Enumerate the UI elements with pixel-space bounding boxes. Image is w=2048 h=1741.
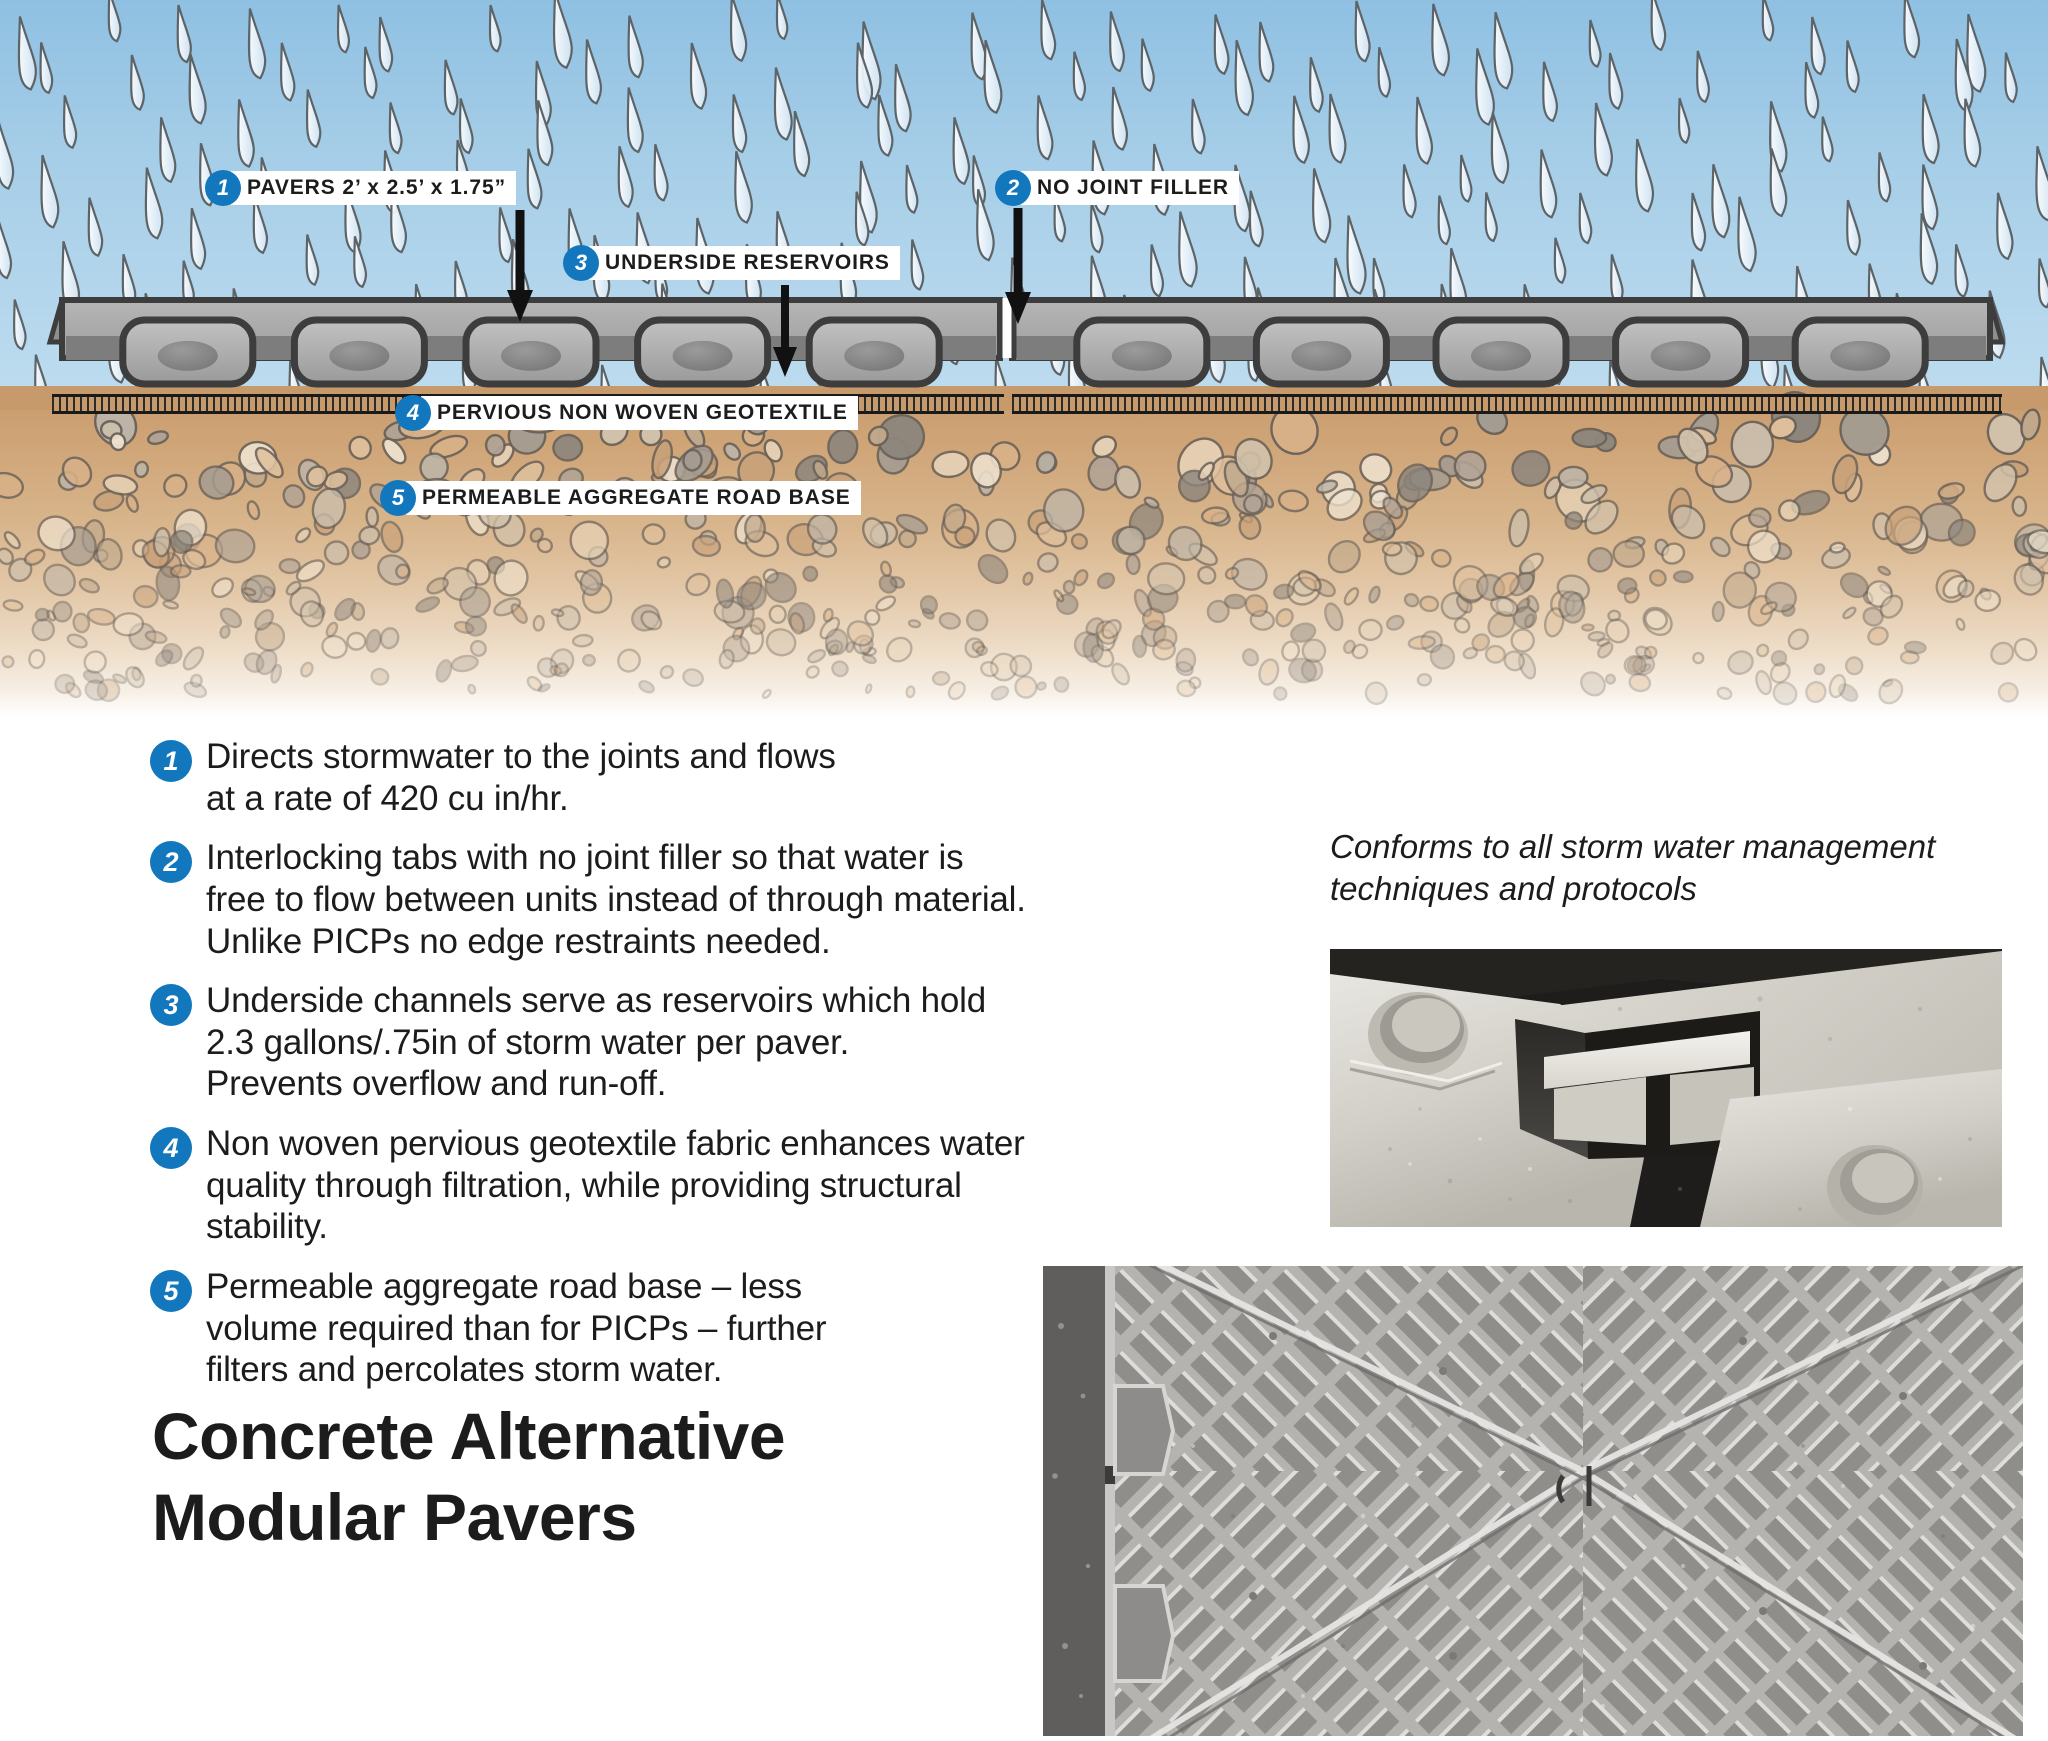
aggregate-pebble [294, 556, 328, 585]
bullet-badge-5: 5 [150, 1270, 192, 1312]
aggregate-pebble [1582, 624, 1593, 630]
bullet-body-2: Interlocking tabs with no joint filler s… [206, 837, 1026, 962]
aggregate-pebble [583, 655, 594, 665]
aggregate-pebble [683, 570, 713, 599]
bullet-body-5: Permeable aggregate road base – less vol… [206, 1266, 826, 1391]
paver-lobe-hole [1291, 341, 1351, 371]
aggregate-pebble [721, 441, 743, 463]
bullet-line: free to flow between units instead of th… [206, 880, 1026, 919]
aggregate-pebble [2012, 496, 2026, 516]
aggregate-pebble [366, 507, 379, 527]
aggregate-pebble [28, 649, 45, 668]
callout-label-5: PERMEABLE AGGREGATE ROAD BASE [406, 481, 861, 515]
aggregate-pebble [1363, 680, 1390, 707]
aggregate-pebble [1693, 653, 1703, 663]
aggregate-pebble [1133, 636, 1146, 657]
paver-lobe-hole [673, 341, 733, 371]
bullet-body-3: Underside channels serve as reservoirs w… [206, 980, 986, 1105]
aggregate-pebble [1126, 554, 1140, 574]
aggregate-pebble [1605, 674, 1616, 685]
bullet-line: Directs stormwater to the joints and flo… [206, 737, 836, 776]
aggregate-pebble [1359, 619, 1383, 641]
aggregate-pebble [346, 433, 375, 463]
aggregate-road-base-layer [0, 386, 2048, 716]
list-item: 2 Interlocking tabs with no joint filler… [150, 837, 1260, 962]
bullet-line: filters and percolates storm water. [206, 1350, 722, 1389]
bullet-line: stability. [206, 1207, 328, 1246]
conformance-note: Conforms to all storm water management t… [1330, 826, 2030, 909]
aggregate-pebble [3, 599, 23, 612]
aggregate-pebble [1613, 541, 1644, 567]
aggregate-pebble [883, 633, 916, 666]
aggregate-pebble [180, 644, 206, 672]
aggregate-pebble [1749, 508, 1770, 526]
bullet-line: Permeable aggregate road base – less [206, 1267, 802, 1306]
aggregate-pebble [614, 646, 644, 676]
callout-pavers[interactable]: 1 PAVERS 2’ x 2.5’ x 1.75” [205, 170, 516, 206]
paver-lobe-hole [1112, 341, 1172, 371]
callout-label-4: PERVIOUS NON WOVEN GEOTEXTILE [421, 396, 858, 430]
aggregate-pebble [1770, 678, 1801, 708]
infographic-page: 1 PAVERS 2’ x 2.5’ x 1.75” 2 NO JOINT FI… [0, 0, 2048, 1741]
aggregate-pebble [1617, 577, 1637, 594]
aggregate-pebble [379, 626, 401, 650]
aggregate-pebble [160, 471, 191, 501]
aggregate-pebble [1053, 589, 1065, 602]
aggregate-pebble [1022, 572, 1034, 586]
aggregate-pebble [1877, 565, 1891, 576]
aggregate-pebble [1053, 676, 1069, 693]
aggregate-pebble [1674, 571, 1693, 582]
bullet-line: Interlocking tabs with no joint filler s… [206, 838, 963, 877]
callout-no-joint-filler[interactable]: 2 NO JOINT FILLER [995, 170, 1239, 206]
bullet-line: Prevents overflow and run-off. [206, 1064, 666, 1103]
aggregate-pebble [865, 610, 880, 625]
aggregate-pebble [555, 604, 582, 632]
aggregate-pebble [1036, 681, 1046, 691]
paver-lobe-hole [1830, 341, 1890, 371]
bullet-body-4: Non woven pervious geotextile fabric enh… [206, 1123, 1025, 1248]
aggregate-pebble [1803, 679, 1828, 705]
aggregate-pebble [123, 664, 147, 690]
callout-badge-5: 5 [380, 480, 416, 516]
aggregate-pebble [132, 584, 159, 609]
aggregate-pebble [1240, 647, 1260, 668]
aggregate-pebble [0, 654, 15, 669]
aggregate-pebble [1273, 606, 1295, 629]
aggregate-pebble [874, 594, 897, 613]
callout-underside-reservoirs[interactable]: 3 UNDERSIDE RESERVOIRS [563, 245, 900, 281]
paver-lobe-hole [329, 341, 389, 371]
aggregate-pebble [2011, 635, 2041, 665]
aggregate-pebble [1278, 489, 1310, 514]
aggregate-pebble [1558, 466, 1587, 488]
pebbles-group [0, 386, 2048, 716]
arrow-pavers [505, 210, 535, 325]
aggregate-pebble [573, 634, 593, 647]
paver-lobe-hole [158, 341, 218, 371]
aggregate-pebble [280, 559, 300, 573]
callout-label-2: NO JOINT FILLER [1021, 171, 1239, 205]
aggregate-pebble [246, 500, 261, 520]
note-line-1: Conforms to all storm water management [1330, 826, 2030, 868]
aggregate-pebble [1403, 592, 1420, 608]
aggregate-pebble [1785, 626, 1812, 653]
aggregate-pebble [1573, 429, 1607, 447]
aggregate-pebble [1647, 567, 1668, 588]
title-line-1: Concrete Alternative [152, 1396, 785, 1477]
aggregate-pebble [1322, 601, 1345, 632]
aggregate-pebble [865, 684, 872, 694]
callout-label-1: PAVERS 2’ x 2.5’ x 1.75” [231, 171, 516, 205]
aggregate-pebble [370, 667, 390, 687]
aggregate-pebble [827, 428, 859, 464]
aggregate-pebble [2, 530, 22, 551]
aggregate-pebble [802, 565, 819, 582]
aggregate-pebble [365, 629, 382, 653]
paver-lobe-hole [1651, 341, 1711, 371]
aggregate-pebble [982, 515, 1021, 556]
aggregate-pebble [1712, 602, 1724, 622]
aggregate-pebble [1323, 535, 1366, 579]
aggregate-pebble [659, 664, 676, 680]
photo-paver-surface-texture [1043, 1266, 2023, 1736]
aggregate-pebble [1624, 656, 1645, 675]
aggregate-pebble [32, 618, 55, 641]
list-item: 4 Non woven pervious geotextile fabric e… [150, 1123, 1260, 1248]
list-item: 1 Directs stormwater to the joints and f… [150, 736, 1260, 819]
callout-label-3: UNDERSIDE RESERVOIRS [589, 246, 900, 280]
aggregate-pebble [657, 556, 672, 569]
aggregate-pebble [1905, 641, 1926, 654]
bullet-line: volume required than for PICPs – further [206, 1309, 826, 1348]
aggregate-pebble [638, 679, 656, 694]
aggregate-pebble [325, 541, 349, 564]
aggregate-pebble [1109, 661, 1132, 687]
aggregate-pebble [78, 576, 101, 594]
aggregate-pebble [963, 607, 991, 634]
aggregate-pebble [931, 450, 970, 479]
aggregate-pebble [280, 482, 308, 511]
aggregate-pebble [465, 616, 486, 636]
aggregate-pebble [220, 625, 231, 638]
bullet-line: at a rate of 420 cu in/hr. [206, 779, 569, 818]
aggregate-pebble [1813, 663, 1826, 676]
photo-paver-interlocking-tab [1330, 949, 2002, 1227]
aggregate-pebble [1866, 625, 1890, 647]
bullet-line: quality through filtration, while provid… [206, 1166, 962, 1205]
callout-aggregate-base[interactable]: 5 PERMEABLE AGGREGATE ROAD BASE [380, 480, 861, 516]
aggregate-pebble [1987, 639, 2017, 668]
aggregate-pebble [1383, 542, 1402, 556]
bullet-badge-2: 2 [150, 841, 192, 883]
aggregate-pebble [1974, 589, 2001, 613]
callout-geotextile[interactable]: 4 PERVIOUS NON WOVEN GEOTEXTILE [395, 395, 858, 431]
aggregate-pebble [973, 550, 1012, 589]
aggregate-pebble [681, 667, 705, 688]
aggregate-pebble [553, 434, 583, 461]
aggregate-pebble [1419, 595, 1439, 612]
aggregate-pebble [762, 689, 772, 699]
aggregate-pebble [805, 664, 821, 680]
note-line-2: techniques and protocols [1330, 868, 2030, 910]
aggregate-pebble [1064, 581, 1075, 594]
aggregate-pebble [218, 605, 245, 630]
content-area: 1 Directs stormwater to the joints and f… [0, 716, 2048, 1741]
aggregate-pebble [1368, 585, 1382, 603]
aggregate-pebble [1087, 455, 1120, 491]
aggregate-pebble [1716, 686, 1733, 701]
aggregate-pebble [1937, 481, 1965, 502]
aggregate-pebble [745, 515, 765, 542]
page-title: Concrete Alternative Modular Pavers [152, 1396, 785, 1557]
aggregate-pebble [1955, 618, 1966, 631]
aggregate-pebble [1272, 685, 1289, 702]
aggregate-pebble [434, 659, 453, 684]
aggregate-pebble [939, 612, 962, 631]
aggregate-pebble [1510, 628, 1534, 652]
aggregate-pebble [209, 575, 236, 601]
aggregate-pebble [1729, 420, 1775, 470]
aggregate-pebble [1628, 672, 1651, 693]
aggregate-pebble [485, 434, 505, 456]
aggregate-pebble [1584, 544, 1616, 576]
aggregate-pebble [1417, 673, 1431, 686]
list-item: 3 Underside channels serve as reservoirs… [150, 980, 1260, 1105]
aggregate-pebble [163, 600, 179, 610]
aggregate-pebble [66, 632, 88, 649]
bullet-line: Non woven pervious geotextile fabric enh… [206, 1124, 1025, 1163]
aggregate-pebble [806, 648, 826, 665]
paver-lobe-hole [501, 341, 561, 371]
aggregate-pebble [320, 633, 349, 660]
aggregate-pebble [933, 671, 950, 685]
aggregate-pebble [451, 654, 479, 673]
aggregate-pebble [1356, 449, 1396, 488]
aggregate-pebble [1147, 562, 1185, 595]
aggregate-pebble [533, 616, 544, 631]
aggregate-pebble [378, 519, 405, 554]
callout-badge-4: 4 [395, 395, 431, 431]
aggregate-pebble [467, 684, 476, 694]
bullet-badge-1: 1 [150, 740, 192, 782]
aggregate-pebble [1708, 534, 1734, 559]
aggregate-pebble [147, 429, 170, 446]
aggregate-pebble [830, 659, 850, 678]
arrow-no-joint-filler [1003, 208, 1033, 326]
aggregate-pebble [1069, 531, 1089, 551]
bullet-line: Underside channels serve as reservoirs w… [206, 981, 986, 1020]
aggregate-pebble [990, 684, 1010, 702]
callout-badge-3: 3 [563, 245, 599, 281]
title-line-2: Modular Pavers [152, 1477, 785, 1558]
callout-badge-2: 2 [995, 170, 1031, 206]
aggregate-pebble [379, 435, 410, 467]
aggregate-pebble [190, 674, 202, 687]
paver-lobe-hole [1471, 341, 1531, 371]
geotextile-stripe-right [1012, 394, 2002, 414]
aggregate-pebble [1454, 451, 1486, 481]
aggregate-pebble [642, 524, 665, 545]
aggregate-pebble [1095, 571, 1116, 591]
aggregate-pebble [134, 461, 150, 479]
aggregate-pebble [769, 605, 787, 624]
aggregate-pebble [347, 633, 365, 650]
aggregate-pebble [0, 470, 25, 501]
aggregate-pebble [1875, 675, 1907, 708]
aggregate-pebble [1385, 614, 1406, 632]
aggregate-pebble [1034, 449, 1059, 475]
aggregate-pebble [1015, 677, 1036, 698]
aggregate-pebble [1430, 548, 1452, 569]
aggregate-pebble [1257, 657, 1281, 686]
bullet-line: Unlike PICPs no edge restraints needed. [206, 922, 831, 961]
aggregate-pebble [895, 511, 930, 537]
aggregate-pebble [718, 649, 735, 670]
aggregate-pebble [906, 686, 915, 697]
aggregate-pebble [299, 661, 315, 678]
aggregate-pebble [1845, 656, 1864, 675]
aggregate-pebble [825, 629, 848, 655]
aggregate-pebble [1486, 646, 1505, 663]
aggregate-pebble [52, 601, 72, 622]
callout-badge-1: 1 [205, 170, 241, 206]
aggregate-pebble [87, 607, 116, 627]
aggregate-pebble [909, 620, 921, 628]
aggregate-pebble [1577, 668, 1610, 700]
aggregate-pebble [1195, 564, 1218, 587]
bullet-badge-4: 4 [150, 1127, 192, 1169]
aggregate-pebble [1725, 647, 1757, 677]
bullet-body-1: Directs stormwater to the joints and flo… [206, 736, 836, 819]
aggregate-pebble [509, 602, 530, 625]
aggregate-pebble [1225, 595, 1245, 609]
aggregate-pebble [171, 565, 191, 577]
aggregate-pebble [1996, 680, 2020, 704]
aggregate-pebble [1644, 646, 1658, 659]
aggregate-pebble [877, 572, 900, 595]
aggregate-pebble [294, 526, 313, 545]
aggregate-pebble [1089, 432, 1119, 461]
aggregate-pebble [946, 679, 968, 702]
aggregate-pebble [1342, 586, 1360, 606]
paver-lobe-hole [844, 341, 904, 371]
aggregate-pebble [1755, 643, 1770, 658]
aggregate-pebble [125, 494, 140, 514]
arrow-underside-reservoirs [770, 285, 800, 380]
aggregate-pebble [1035, 551, 1060, 575]
aggregate-pebble [153, 528, 171, 557]
aggregate-pebble [750, 618, 764, 634]
bullet-badge-3: 3 [150, 984, 192, 1026]
aggregate-pebble [1507, 508, 1531, 547]
aggregate-pebble [1438, 425, 1460, 448]
aggregate-pebble [1842, 606, 1857, 620]
aggregate-pebble [414, 595, 440, 615]
bullet-line: 2.3 gallons/.75in of storm water per pav… [206, 1023, 849, 1062]
